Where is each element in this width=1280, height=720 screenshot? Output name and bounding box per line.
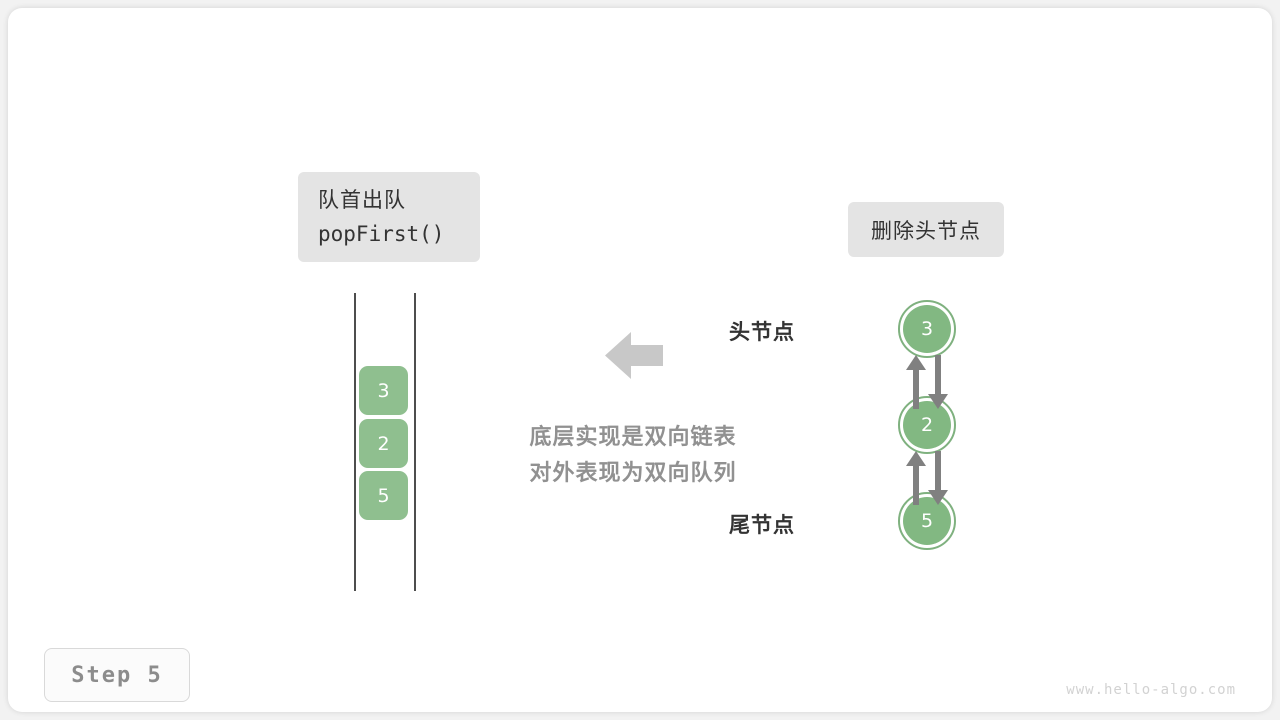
list-node-value: 3 xyxy=(903,305,951,353)
note-line-1: 底层实现是双向链表 xyxy=(473,420,793,456)
operation-title: 队首出队 xyxy=(318,183,406,217)
diagram-card: 队首出队 popFirst() 3 2 5 底层实现是双向链表 对外表现为双向队… xyxy=(8,8,1272,712)
bidirectional-link-icon xyxy=(905,451,949,505)
explanation-note: 底层实现是双向链表 对外表现为双向队列 xyxy=(473,420,793,492)
left-arrow-icon xyxy=(605,328,663,383)
deque-cell-value: 3 xyxy=(377,380,389,402)
watermark: www.hello-algo.com xyxy=(1066,682,1236,698)
deque-rail-right xyxy=(414,293,416,591)
list-operation-chip: 删除头节点 xyxy=(848,202,1004,257)
head-node-label: 头节点 xyxy=(675,316,795,346)
note-line-2: 对外表现为双向队列 xyxy=(473,456,793,492)
operation-method: popFirst() xyxy=(318,217,444,251)
bidirectional-link-icon xyxy=(905,355,949,409)
deque-cell: 2 xyxy=(359,419,408,468)
step-label: Step 5 xyxy=(71,663,162,688)
deque-cell: 5 xyxy=(359,471,408,520)
diagram-canvas: 队首出队 popFirst() 3 2 5 底层实现是双向链表 对外表现为双向队… xyxy=(0,0,1280,720)
deque-cell-value: 2 xyxy=(377,433,389,455)
tail-node-label: 尾节点 xyxy=(675,509,795,539)
list-node-head: 3 xyxy=(898,300,956,358)
step-badge: Step 5 xyxy=(44,648,190,702)
list-operation-label: 删除头节点 xyxy=(871,215,981,245)
deque-cell: 3 xyxy=(359,366,408,415)
deque-cell-value: 5 xyxy=(377,485,389,507)
deque-rail-left xyxy=(354,293,356,591)
operation-chip: 队首出队 popFirst() xyxy=(298,172,480,262)
